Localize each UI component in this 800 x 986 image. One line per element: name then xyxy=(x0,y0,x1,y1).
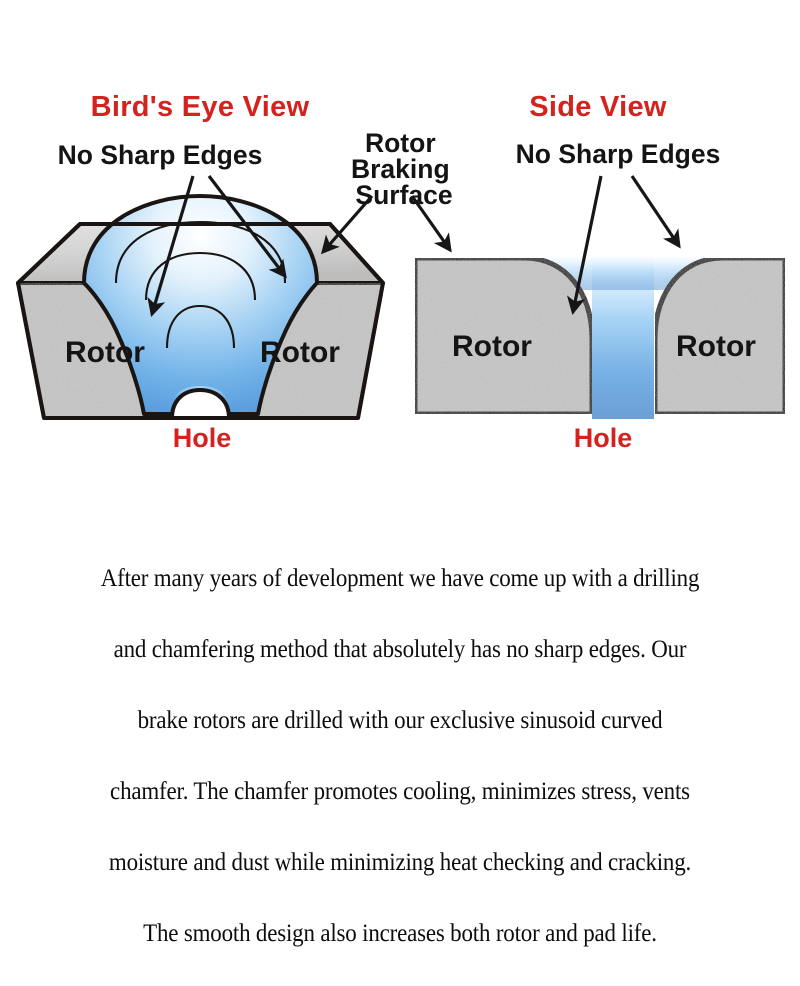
caption-line: The smooth design also increases both ro… xyxy=(49,915,751,951)
caption-line: moisture and dust while minimizing heat … xyxy=(49,844,751,880)
side-view-rotor-label-right: Rotor xyxy=(676,330,756,363)
caption-line: After many years of development we have … xyxy=(49,560,751,596)
caption-line: brake rotors are drilled with our exclus… xyxy=(49,702,751,738)
rotor-braking-surface-callout: Rotor Braking Surface xyxy=(323,128,457,252)
side-view-rotor-label-left: Rotor xyxy=(452,330,532,363)
side-view-no-sharp-edges-label: No Sharp Edges xyxy=(516,139,721,169)
diagram-area: Bird's Eye View No Sharp Edges Rotor Rot… xyxy=(0,0,800,470)
braking-surface-line-3: Surface xyxy=(355,180,452,210)
illustration-page: Bird's Eye View No Sharp Edges Rotor Rot… xyxy=(0,0,800,800)
side-view-no-sharp-edges-arrow-right xyxy=(632,176,679,246)
caption-line: and chamfering method that absolutely ha… xyxy=(49,631,751,667)
caption-line: chamfer. The chamfer promotes cooling, m… xyxy=(49,773,751,809)
birds-eye-view-figure: Bird's Eye View No Sharp Edges Rotor Rot… xyxy=(18,91,383,453)
side-view-hole-label: Hole xyxy=(574,423,633,453)
birds-eye-no-sharp-edges-label: No Sharp Edges xyxy=(58,140,263,170)
rotor-braking-surface-label: Rotor Braking Surface xyxy=(351,128,457,210)
caption-paragraph: After many years of development we have … xyxy=(49,524,751,986)
rotor-label-right: Rotor xyxy=(260,336,340,369)
birds-eye-hole-label: Hole xyxy=(173,423,232,453)
brake-rotor-diagram-svg: Bird's Eye View No Sharp Edges Rotor Rot… xyxy=(0,0,800,470)
side-view-title: Side View xyxy=(529,91,667,123)
rotor-label-left: Rotor xyxy=(65,336,145,369)
side-view-figure: Side View No Sharp Edges Rotor Rotor Hol… xyxy=(415,91,785,453)
birds-eye-view-title: Bird's Eye View xyxy=(91,91,310,123)
